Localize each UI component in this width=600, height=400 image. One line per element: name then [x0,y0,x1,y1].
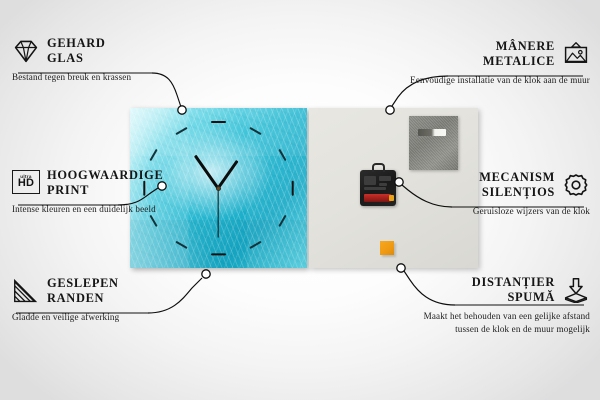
feature-description: Bestand tegen breuk en krassen [12,71,197,84]
feature-hoogwaardige-print[interactable]: ultra HD HOOGWAARDIGEPRINT Intense kleur… [12,168,197,216]
feature-title: MECANISMSILENȚIOS [479,170,555,200]
foam-spacer [380,241,394,255]
clock-second-hand [217,188,218,237]
hanger-slot [418,129,446,136]
mechanism-detail [379,183,387,186]
feature-heading: GESLEPENRANDEN [12,276,197,306]
quartz-mechanism-box [360,170,396,206]
infographic-canvas: GEHARDGLAS Bestand tegen breuk en krasse… [0,0,600,400]
feature-title: GEHARDGLAS [47,36,106,66]
ultra-hd-icon: ultra HD [12,170,40,196]
metal-hanger-plate [409,116,458,170]
feature-title: GESLEPENRANDEN [47,276,119,306]
feature-description: Eenvoudige installatie van de klok aan d… [405,74,590,87]
feature-description: Maakt het behouden van een gelijke afsta… [405,310,590,335]
feature-geslepen-randen[interactable]: GESLEPENRANDEN Gladde en veilige afwerki… [12,276,197,324]
feature-heading: MECANISMSILENȚIOS [405,170,590,200]
mechanism-detail [364,176,376,185]
feature-heading: MÂNEREMETALICE [405,39,590,69]
feature-heading: GEHARDGLAS [12,36,197,66]
feature-gehard-glas[interactable]: GEHARDGLAS Bestand tegen breuk en krasse… [12,36,197,84]
clock-center-hub [216,186,221,191]
feature-description: Intense kleuren en een duidelijk beeld [12,203,197,216]
diamond-icon [12,38,40,64]
feature-distantier-spuma[interactable]: DISTANȚIERSPUMĂ Maakt het behouden van e… [405,275,590,335]
feature-mecanism-silentios[interactable]: MECANISMSILENȚIOS Geruisloze wijzers van… [405,170,590,218]
clock-tick-3 [291,180,293,195]
feature-title: HOOGWAARDIGEPRINT [47,168,163,198]
feature-title: DISTANȚIERSPUMĂ [472,275,555,305]
feature-manere-metalice[interactable]: MÂNEREMETALICE Eenvoudige installatie va… [405,39,590,87]
battery [364,194,391,202]
mechanism-detail [379,176,391,181]
feature-title: MÂNEREMETALICE [483,39,555,69]
feature-description: Gladde en veilige afwerking [12,311,197,324]
feature-description: Geruisloze wijzers van de klok [405,205,590,218]
gear-icon [562,172,590,198]
mechanism-hanging-loop [372,163,385,172]
hd-label: HD [18,178,34,189]
bevelled-edge-icon [12,278,40,304]
mechanism-detail [364,187,386,190]
feature-heading: ultra HD HOOGWAARDIGEPRINT [12,168,197,198]
battery-terminal [389,195,394,201]
spacer-press-icon [562,277,590,303]
wall-hanging-frame-icon [562,41,590,67]
connector-node-geslepen-randen [202,270,210,278]
feature-heading: DISTANȚIERSPUMĂ [405,275,590,305]
clock-tick-6 [211,253,226,255]
